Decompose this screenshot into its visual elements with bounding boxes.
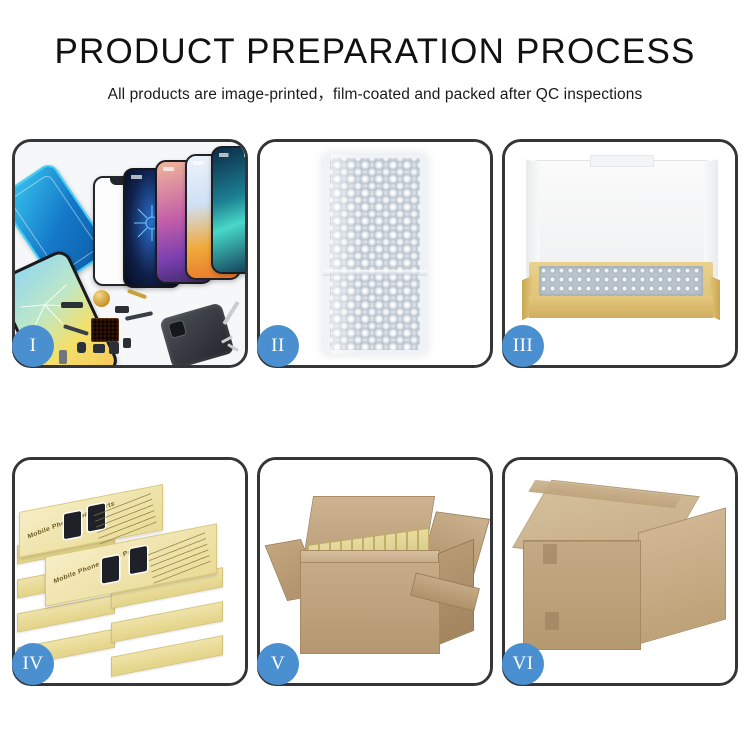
step-panel-1: I: [12, 139, 248, 368]
small-part-a: [77, 342, 86, 353]
box-edge-7: [111, 635, 223, 677]
earpiece-mesh: [61, 302, 83, 308]
box-edge-6: [111, 601, 223, 643]
step-panel-2: II: [257, 139, 493, 368]
plastic-sheen: [331, 154, 358, 354]
logic-board: [91, 318, 119, 342]
small-part-b: [93, 344, 105, 353]
step-image-3: [505, 142, 735, 365]
small-part-c: [109, 342, 119, 354]
step-panel-5: V: [257, 457, 493, 686]
step-image-5: [260, 460, 490, 683]
sealed-carton: [521, 484, 725, 660]
small-part-e: [115, 306, 129, 313]
phone-teal: [211, 146, 245, 274]
step-badge-2: II: [257, 325, 299, 367]
battery-connector: [59, 350, 67, 364]
step-image-1: [15, 142, 245, 365]
flex-cable-gold: [127, 289, 147, 300]
step-panel-4: Mobile Phone Spare Parts Mobile Phone Sp…: [12, 457, 248, 686]
carton-right-face: [638, 507, 726, 644]
product-preparation-infographic: PRODUCT PREPARATION PROCESS All products…: [0, 0, 750, 750]
wrap-fold: [323, 270, 427, 276]
gold-coil: [93, 290, 110, 307]
bubble-wrapped-contents: [539, 266, 703, 296]
step-image-4: Mobile Phone Spare Parts Mobile Phone Sp…: [15, 460, 245, 683]
step-image-6: [505, 460, 735, 683]
small-part-d: [123, 338, 131, 348]
step-badge-1: I: [12, 325, 54, 367]
screwdriver-tool: [222, 301, 239, 325]
step-badge-5: V: [257, 643, 299, 685]
phone-back-housing: [159, 302, 235, 365]
page-subtitle: All products are image-printed，film-coat…: [0, 82, 750, 104]
carton-seam-top: [523, 540, 639, 542]
open-inner-box: [523, 158, 719, 350]
header: PRODUCT PREPARATION PROCESS All products…: [0, 0, 750, 104]
bubble-wrap-bag: [323, 154, 427, 354]
flex-cable-right: [125, 311, 153, 321]
step-panel-3: III: [502, 139, 738, 368]
step-badge-6: VI: [502, 643, 544, 685]
step-panel-6: VI: [502, 457, 738, 686]
step-badge-3: III: [502, 325, 544, 367]
carton-mark-lower: [545, 612, 559, 630]
box-tray: [529, 262, 713, 318]
steps-grid: I II: [12, 139, 738, 691]
carton-mark-upper: [543, 544, 557, 564]
carton-front-face: [523, 540, 641, 650]
step-badge-4: IV: [12, 643, 54, 685]
stacked-boxes: Mobile Phone Spare Parts Mobile Phone Sp…: [15, 472, 245, 678]
open-outer-carton: [282, 488, 472, 660]
step-image-2: [260, 142, 490, 365]
page-title: PRODUCT PREPARATION PROCESS: [0, 34, 750, 69]
